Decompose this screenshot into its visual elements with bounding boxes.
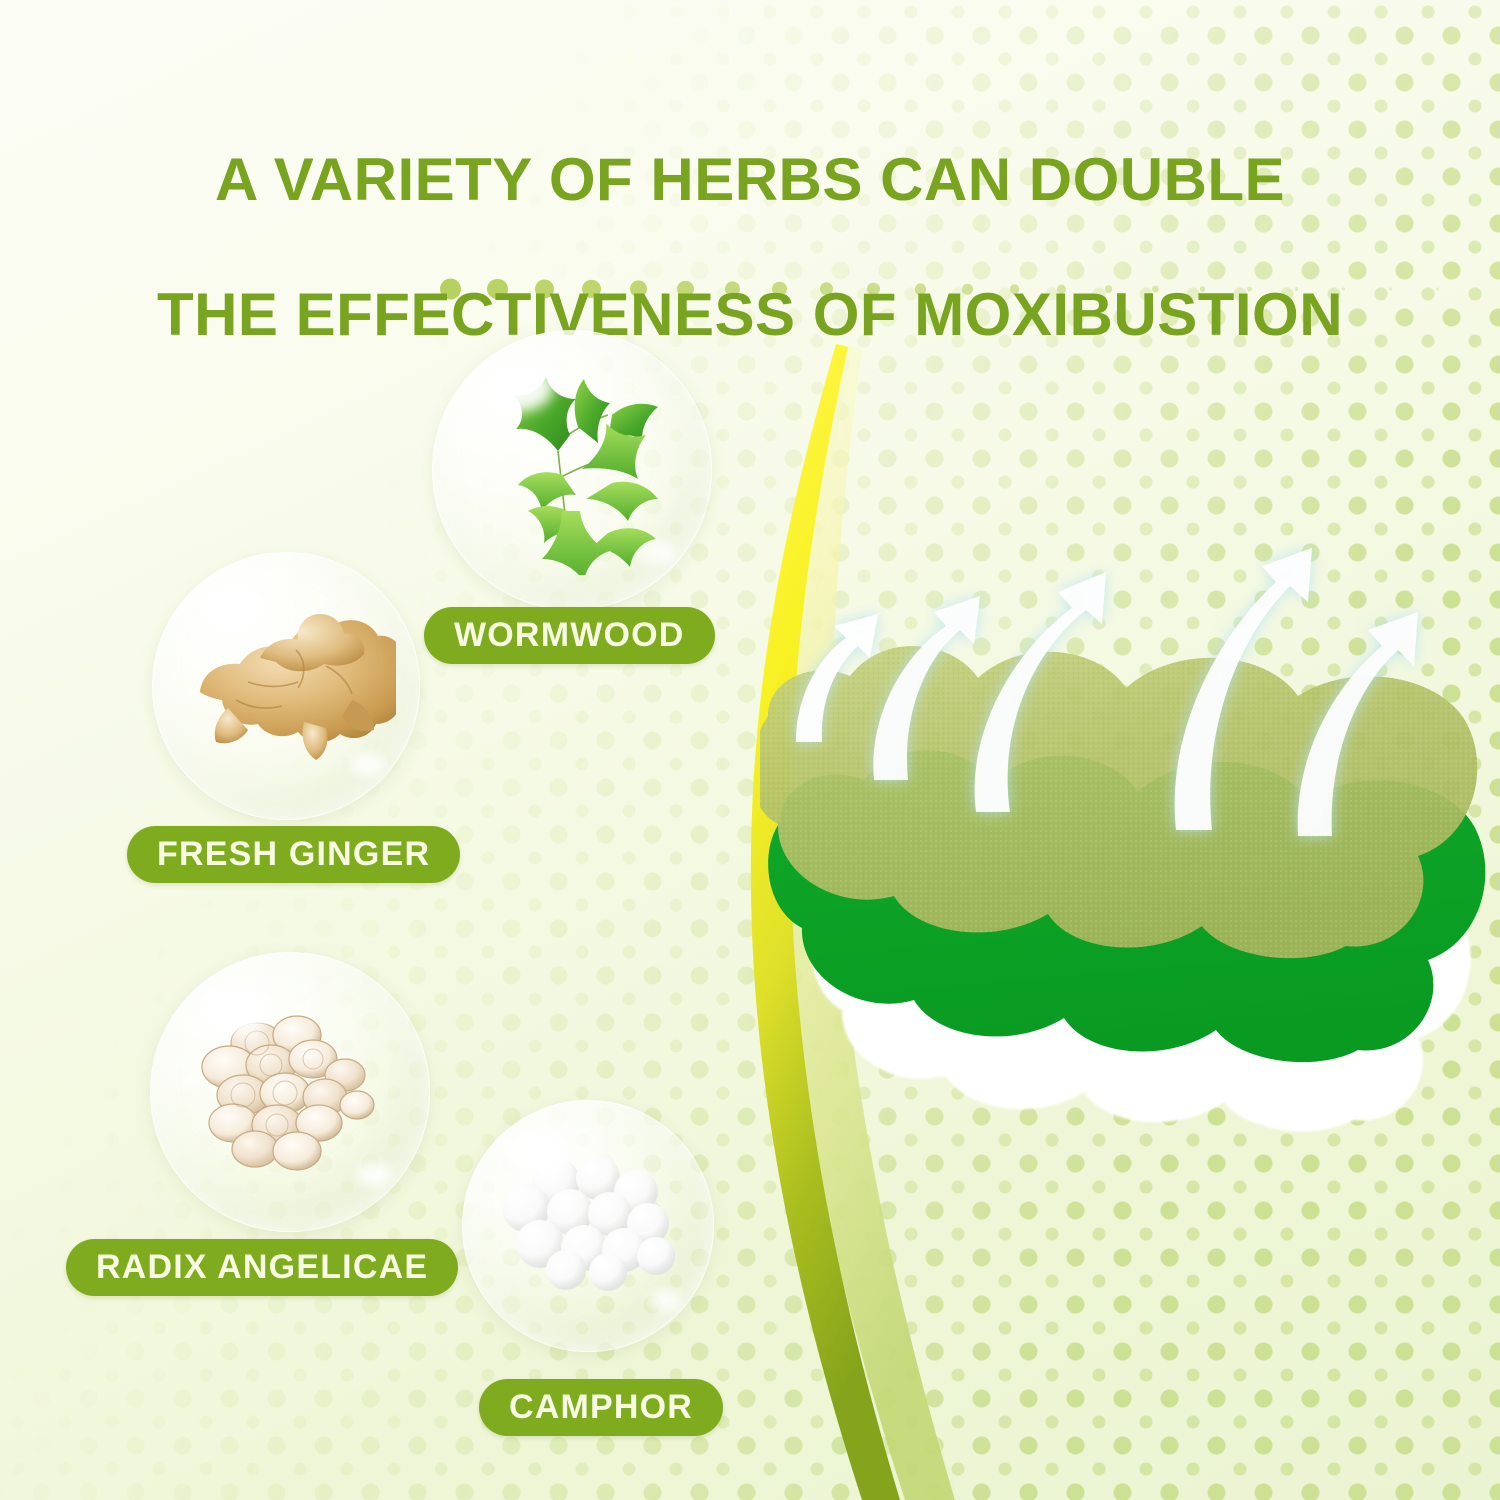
angelica-slices-image (151, 953, 429, 1231)
ingredient-bubble-wormwood[interactable] (432, 330, 712, 610)
ingredient-bubble-radix-angelicae[interactable] (150, 952, 430, 1232)
ingredient-bubble-camphor[interactable] (462, 1100, 714, 1352)
ingredient-bubble-fresh-ginger[interactable] (152, 552, 420, 820)
poster: A VARIETY OF HERBS CAN DOUBLE THE EFFECT… (0, 0, 1500, 1500)
wormwood-sprig-image (433, 331, 711, 609)
moxibustion-patch-layers (760, 530, 1500, 1170)
ingredient-label-fresh-ginger[interactable]: FRESH GINGER (127, 826, 460, 883)
page-title: A VARIETY OF HERBS CAN DOUBLE THE EFFECT… (0, 78, 1500, 417)
ingredient-label-radix-angelicae[interactable]: RADIX ANGELICAE (66, 1239, 458, 1296)
page-title-line-2: THE EFFECTIVENESS OF MOXIBUSTION (0, 281, 1500, 349)
camphor-balls-image (463, 1101, 713, 1351)
ingredient-label-camphor[interactable]: CAMPHOR (479, 1379, 723, 1436)
ingredient-label-wormwood[interactable]: WORMWOOD (424, 607, 715, 664)
ginger-root-image (153, 553, 419, 819)
page-title-line-1: A VARIETY OF HERBS CAN DOUBLE (0, 146, 1500, 214)
